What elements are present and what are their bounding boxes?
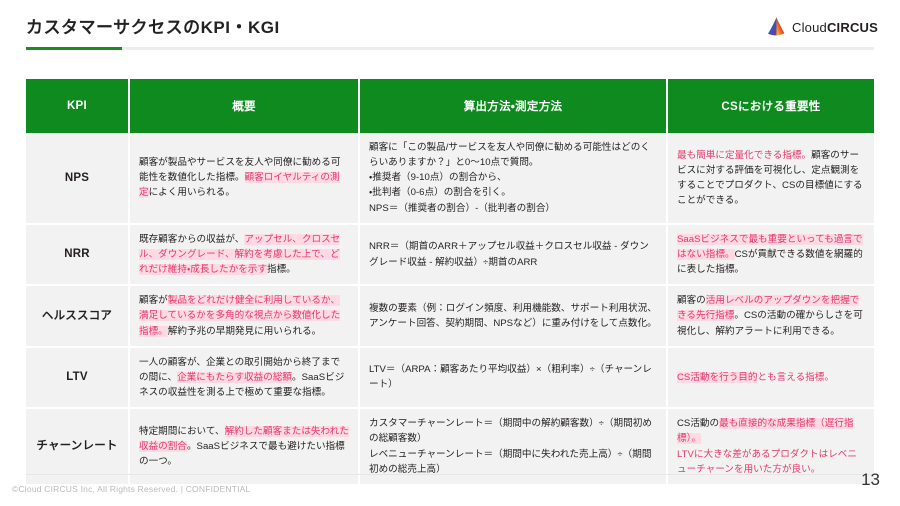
table-body: NPS顧客が製品やサービスを友人や同僚に勧める可能性を数値化した指標。顧客ロイヤ… xyxy=(26,133,874,484)
cell-overview-text: 企業にもたらす収益の総額 xyxy=(177,372,292,383)
footer-divider xyxy=(26,474,874,475)
cell-method: カスタマーチャーンレート＝（期間中の解約顧客数）÷（期間初めの総顧客数）レベニュ… xyxy=(360,409,668,484)
page-title: カスタマーサクセスのKPI・KGI xyxy=(26,13,280,38)
brand-logo-text: CloudCIRCUS xyxy=(792,20,878,35)
table-header-row: KPI 概要 算出方法・測定方法 CSにおける重要性 xyxy=(26,79,874,133)
table-head: KPI 概要 算出方法・測定方法 CSにおける重要性 xyxy=(26,79,874,133)
cell-importance: 顧客の活用レベルのアップダウンを把握できる先行指標。CSの活動の確からしさを可視… xyxy=(668,286,874,347)
cell-method-text: ・批判者（0-6点）の割合を引く。 xyxy=(369,187,511,198)
cell-overview-text: 特定期間において、 xyxy=(139,426,225,437)
cell-overview-text: 既存顧客からの収益が、 xyxy=(139,234,244,245)
cell-method: 顧客に「この製品/サービスを友人や同僚に勧める可能性はどのくらいありますか？」と… xyxy=(360,133,668,225)
cell-importance-text: LTVに大きな差があるプロダクトはレベニューチャーンを用いた方が良い。 xyxy=(677,449,857,475)
cell-kpi-name: チャーンレート xyxy=(26,409,130,484)
cell-overview-text: 顧客が xyxy=(139,295,168,306)
cloudcircus-logo-icon xyxy=(765,16,787,38)
cell-method-text: レベニューチャーンレート＝（期間中に失われた売上高）÷（期間初めの総売上高） xyxy=(369,449,651,475)
table-row: NRR既存顧客からの収益が、アップセル、クロスセル、ダウングレード、解約を考慮し… xyxy=(26,225,874,286)
cell-importance-text: 顧客の xyxy=(677,295,706,306)
column-header-method: 算出方法・測定方法 xyxy=(360,79,668,133)
column-header-kpi: KPI xyxy=(26,79,130,133)
cell-method: LTV＝（ARPA：顧客あたり平均収益）×（粗利率）÷（チャーンレート） xyxy=(360,348,668,409)
title-underline-accent xyxy=(26,47,122,50)
cell-importance-text: CS活動の xyxy=(677,418,719,429)
cell-method-text: ・推奨者（9-10点）の割合から、 xyxy=(369,172,507,183)
cell-method-text: NRR＝（期首のARR＋アップセル収益＋クロスセル収益 - ダウングレード収益 … xyxy=(369,241,649,267)
kpi-kgi-table: KPI 概要 算出方法・測定方法 CSにおける重要性 NPS顧客が製品やサービス… xyxy=(26,79,874,484)
cell-kpi-name: LTV xyxy=(26,348,130,409)
cell-kpi-name: NRR xyxy=(26,225,130,286)
copyright-text: ©Cloud CIRCUS Inc, All Rights Reserved. … xyxy=(12,484,250,494)
slide-header: カスタマーサクセスのKPI・KGI xyxy=(0,0,900,60)
cell-overview-text: によく用いられる。 xyxy=(149,187,235,198)
column-header-overview: 概要 xyxy=(130,79,360,133)
cell-importance: CS活動を行う目的とも言える指標。 xyxy=(668,348,874,409)
cell-overview: 一人の顧客が、企業との取引開始から終了までの間に、企業にもたらす収益の総額。Sa… xyxy=(130,348,360,409)
column-header-importance: CSにおける重要性 xyxy=(668,79,874,133)
brand-logo-text-light: Cloud xyxy=(792,20,827,35)
cell-overview: 顧客が製品やサービスを友人や同僚に勧める可能性を数値化した指標。顧客ロイヤルティ… xyxy=(130,133,360,225)
cell-overview: 既存顧客からの収益が、アップセル、クロスセル、ダウングレード、解約を考慮した上で… xyxy=(130,225,360,286)
cell-overview-text: 解約予兆の早期発見に用いられる。 xyxy=(168,326,322,337)
cell-importance-text: 最も簡単に定量化できる指標。 xyxy=(677,150,811,161)
cell-method-text: LTV＝（ARPA：顧客あたり平均収益）×（粗利率）÷（チャーンレート） xyxy=(369,364,652,390)
table-row: ヘルススコア顧客が製品をどれだけ健全に利用しているか、満足しているかを多角的な視… xyxy=(26,286,874,347)
cell-method-text: カスタマーチャーンレート＝（期間中の解約顧客数）÷（期間初めの総顧客数） xyxy=(369,418,652,444)
page-number: 13 xyxy=(861,470,880,490)
cell-importance-text: CS活動を行う目的 xyxy=(677,372,757,383)
cell-method-text: 顧客に「この製品/サービスを友人や同僚に勧める可能性はどのくらいありますか？」と… xyxy=(369,142,650,168)
cell-kpi-name: ヘルススコア xyxy=(26,286,130,347)
cell-importance: SaaSビジネスで最も重要といっても過言ではない指標。CSが貢献できる数値を網羅… xyxy=(668,225,874,286)
cell-method-text: NPS＝（推奨者の割合）-（批判者の割合） xyxy=(369,203,555,214)
title-underline xyxy=(26,47,874,50)
cell-importance: 最も簡単に定量化できる指標。顧客のサービスに対する評価を可視化し、定点観測をする… xyxy=(668,133,874,225)
cell-method: 複数の要素（例：ログイン頻度、利用機能数、サポート利用状況、アンケート回答、契約… xyxy=(360,286,668,347)
cell-overview: 特定期間において、解約した顧客または失われた収益の割合。SaaSビジネスで最も避… xyxy=(130,409,360,484)
cell-method: NRR＝（期首のARR＋アップセル収益＋クロスセル収益 - ダウングレード収益 … xyxy=(360,225,668,286)
cell-overview: 顧客が製品をどれだけ健全に利用しているか、満足しているかを多角的な視点から数値化… xyxy=(130,286,360,347)
table-row: LTV一人の顧客が、企業との取引開始から終了までの間に、企業にもたらす収益の総額… xyxy=(26,348,874,409)
table-row: チャーンレート特定期間において、解約した顧客または失われた収益の割合。SaaSビ… xyxy=(26,409,874,484)
cell-kpi-name: NPS xyxy=(26,133,130,225)
cell-importance-text: とも言える指標。 xyxy=(757,372,833,383)
cell-importance: CS活動の最も直接的な成果指標（遅行指標）。LTVに大きな差があるプロダクトはレ… xyxy=(668,409,874,484)
brand-logo-text-bold: CIRCUS xyxy=(827,20,878,35)
cell-overview-text: 指標。 xyxy=(267,264,296,275)
cell-method-text: 複数の要素（例：ログイン頻度、利用機能数、サポート利用状況、アンケート回答、契約… xyxy=(369,303,657,329)
brand-logo: CloudCIRCUS xyxy=(765,16,878,38)
slide: カスタマーサクセスのKPI・KGI xyxy=(0,0,900,506)
table-row: NPS顧客が製品やサービスを友人や同僚に勧める可能性を数値化した指標。顧客ロイヤ… xyxy=(26,133,874,225)
